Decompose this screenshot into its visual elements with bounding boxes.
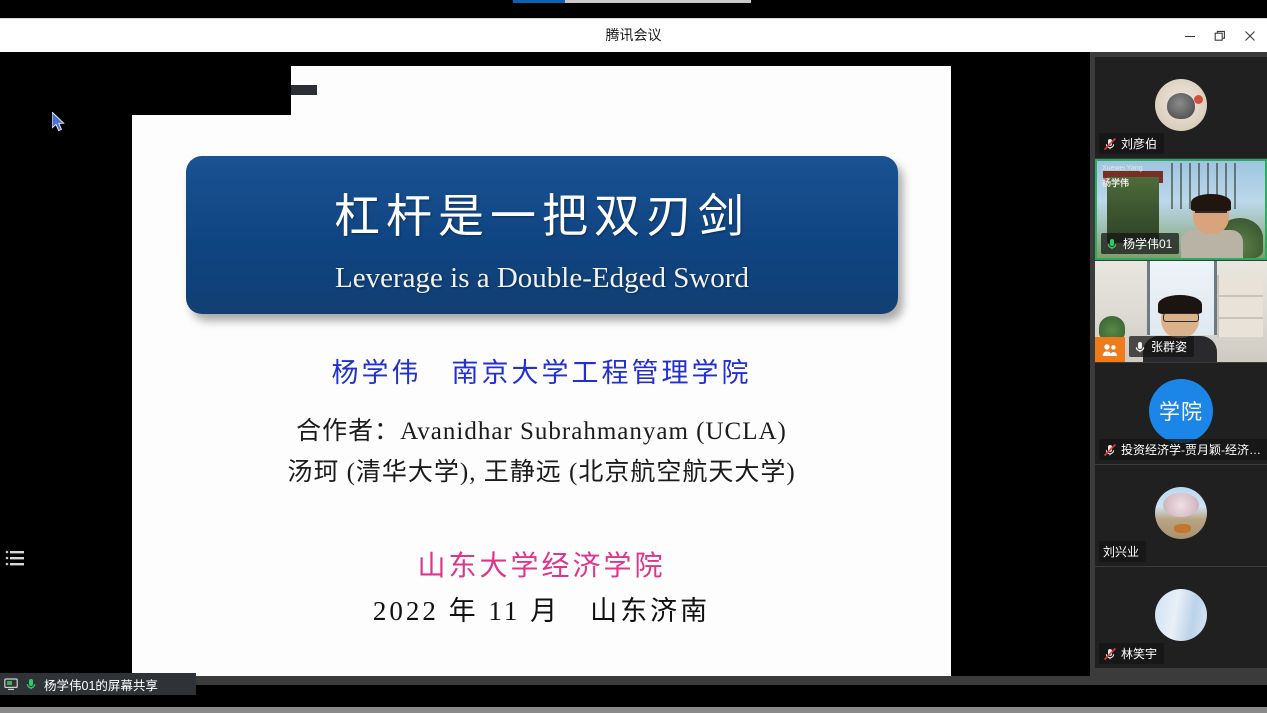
- restore-button[interactable]: [1205, 19, 1235, 52]
- meeting-window: 腾讯会议 杠杆是一把双刃剑 Levera: [0, 0, 1267, 713]
- participant-badge: 投资经济学-贾月颖-经济…: [1099, 439, 1267, 460]
- person: [1181, 196, 1243, 258]
- avatar: 学院: [1149, 379, 1213, 443]
- participant-tile[interactable]: 刘彦伯: [1095, 57, 1267, 158]
- participant-tile-active-speaker[interactable]: Xuewei Yang 杨学伟: [1095, 159, 1267, 260]
- share-status-label: 杨学伟01的屏幕共享: [44, 675, 158, 694]
- shelf: [1217, 275, 1263, 337]
- mic-on-icon: [24, 677, 38, 691]
- slide-date-location: 2022 年 11 月 山东济南: [132, 589, 951, 628]
- slide-coauthor-line-1: 合作者：Avanidhar Subrahmanyam (UCLA): [132, 411, 951, 447]
- participant-tile[interactable]: 刘兴业: [1095, 465, 1267, 566]
- participant-badge: 杨学伟01: [1101, 233, 1179, 254]
- avatar: [1155, 487, 1207, 539]
- slide-title-english: Leverage is a Double-Edged Sword: [335, 262, 749, 295]
- top-edge-strip: [0, 0, 1267, 4]
- virtual-background-caption: Xuewei Yang 杨学伟: [1102, 164, 1143, 190]
- host-icon: [1095, 337, 1125, 362]
- slide-author: 杨学伟 南京大学工程管理学院: [132, 351, 951, 390]
- participant-badge: 张群姿: [1129, 336, 1194, 357]
- person-hair: [1158, 295, 1202, 314]
- minimize-button[interactable]: [1175, 19, 1205, 52]
- top-strip-blue-segment: [513, 0, 565, 3]
- participant-name: 林笑宇: [1121, 645, 1157, 662]
- participant-name: 刘兴业: [1103, 543, 1139, 560]
- mic-muted-icon: [1103, 137, 1117, 151]
- participant-name: 投资经济学-贾月颖-经济…: [1121, 441, 1261, 458]
- mouse-cursor: [52, 112, 67, 139]
- screen-share-notch: [291, 85, 317, 95]
- avatar: [1155, 79, 1207, 131]
- screen-bottom-edge: [0, 707, 1267, 713]
- participant-tile[interactable]: 学院 投资经济学-贾月颖-经济…: [1095, 363, 1267, 464]
- participant-list: 刘彦伯 Xuewei Yang 杨学伟: [1095, 57, 1267, 669]
- screen-share-icon: [4, 677, 18, 691]
- slide-title-chinese: 杠杆是一把双刃剑: [334, 180, 750, 246]
- shelf-line: [1219, 295, 1263, 297]
- presentation-slide: 杠杆是一把双刃剑 Leverage is a Double-Edged Swor…: [132, 66, 951, 677]
- participant-badge: 刘彦伯: [1099, 133, 1164, 154]
- participant-name: 张群姿: [1151, 338, 1187, 355]
- slide-coauthors: 合作者：Avanidhar Subrahmanyam (UCLA) 汤珂 (清华…: [132, 411, 951, 488]
- mic-muted-icon: [1103, 647, 1117, 661]
- top-strip-gray-segment: [565, 0, 751, 3]
- participant-rail: 刘彦伯 Xuewei Yang 杨学伟: [1090, 52, 1267, 677]
- mic-muted-icon: [1103, 443, 1117, 457]
- mic-on-icon: [1133, 340, 1147, 354]
- slide-host-institution: 山东大学经济学院: [132, 544, 951, 584]
- list-icon[interactable]: [5, 549, 25, 567]
- screen-share-black-overlay-left: [0, 52, 132, 677]
- window-controls: [1175, 19, 1265, 52]
- slide-coauthor-line-2: 汤珂 (清华大学), 王静远 (北京航空航天大学): [132, 452, 951, 488]
- screen-share-status[interactable]: 杨学伟01的屏幕共享: [0, 673, 196, 695]
- participant-tile[interactable]: 张群姿: [1095, 261, 1267, 362]
- participant-name: 刘彦伯: [1121, 135, 1157, 152]
- close-button[interactable]: [1235, 19, 1265, 52]
- glasses-icon: [1195, 211, 1227, 219]
- participant-name: 杨学伟01: [1123, 235, 1172, 252]
- person-body: [1181, 230, 1243, 258]
- avatar-text: 学院: [1159, 396, 1203, 426]
- person-hair: [1191, 194, 1231, 211]
- mic-on-icon: [1105, 237, 1119, 251]
- slide-title-banner: 杠杆是一把双刃剑 Leverage is a Double-Edged Swor…: [186, 156, 898, 314]
- title-bar: 腾讯会议: [0, 18, 1267, 52]
- participant-badge: 林笑宇: [1099, 643, 1164, 664]
- participant-badge: 刘兴业: [1099, 541, 1146, 562]
- window-title: 腾讯会议: [0, 19, 1267, 52]
- vb-caption-en: Xuewei Yang: [1102, 165, 1143, 172]
- shelf-line: [1219, 317, 1263, 319]
- participant-tile[interactable]: 林笑宇: [1095, 567, 1267, 668]
- shared-screen-stage: 杠杆是一把双刃剑 Leverage is a Double-Edged Swor…: [0, 52, 1090, 677]
- vb-caption-cn: 杨学伟: [1102, 177, 1143, 191]
- glasses-icon: [1163, 313, 1199, 322]
- avatar: [1155, 589, 1207, 641]
